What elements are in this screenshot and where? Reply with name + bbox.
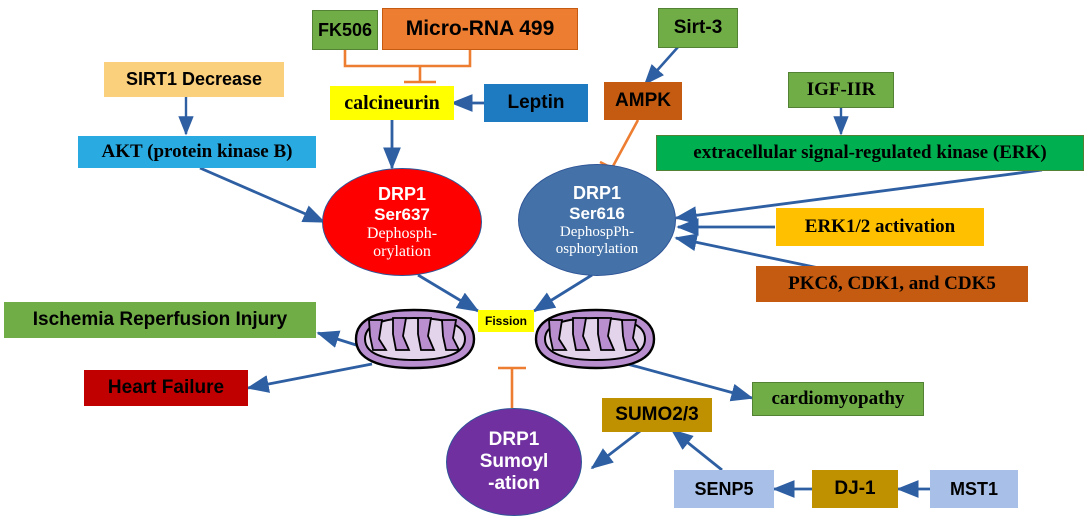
edge-akt-drp1-637 <box>200 168 324 222</box>
ellipse-line-3: -ation <box>488 473 540 495</box>
node-akt[interactable]: AKT (protein kinase B) <box>78 136 316 168</box>
ellipse-line-2: Sumoyl <box>480 451 549 473</box>
node-micro-rna-499[interactable]: Micro-RNA 499 <box>382 8 578 50</box>
mitochondrion-right <box>528 306 664 372</box>
node-fission: Fission <box>478 310 534 332</box>
node-calcineurin[interactable]: calcineurin <box>330 86 454 120</box>
edge-drp1-sumo-fission <box>498 368 526 408</box>
node-senp5[interactable]: SENP5 <box>674 470 774 508</box>
ellipse-drp1-ser616[interactable]: DRP1 Ser616 DephospPh- osphorylation <box>518 164 676 276</box>
node-dj-1[interactable]: DJ-1 <box>812 470 898 508</box>
edge-fk506-calcineurin <box>345 50 420 66</box>
node-mst1[interactable]: MST1 <box>930 470 1018 508</box>
edge-sumo23-drp1-sumo <box>592 428 644 468</box>
pathway-diagram: FK506 Micro-RNA 499 Sirt-3 SIRT1 Decreas… <box>0 0 1084 521</box>
node-igf-iir[interactable]: IGF-IIR <box>788 72 894 108</box>
edge-sirt3-ampk <box>645 47 678 84</box>
ellipse-line-1: DRP1 <box>378 184 426 205</box>
node-erk12-activation[interactable]: ERK1/2 activation <box>776 208 984 246</box>
ellipse-line-2: Ser616 <box>569 204 625 224</box>
ellipse-line-2: Ser637 <box>374 205 430 225</box>
node-leptin[interactable]: Leptin <box>484 84 588 122</box>
node-erk[interactable]: extracellular signal-regulated kinase (E… <box>656 135 1084 171</box>
ellipse-drp1-sumoylation[interactable]: DRP1 Sumoyl -ation <box>446 408 582 516</box>
ellipse-line-1: DRP1 <box>573 183 621 204</box>
node-pkcd-cdk1-cdk5[interactable]: PKCδ, CDK1, and CDK5 <box>756 266 1028 302</box>
node-heart-failure[interactable]: Heart Failure <box>84 370 248 406</box>
node-sirt1-decrease[interactable]: SIRT1 Decrease <box>104 62 284 97</box>
ellipse-line-4: orylation <box>373 243 431 261</box>
mitochondrion-left <box>346 306 482 372</box>
edge-senp5-sumo23 <box>672 430 722 470</box>
node-cardiomyopathy[interactable]: cardiomyopathy <box>752 382 924 416</box>
ellipse-drp1-ser637[interactable]: DRP1 Ser637 Dephosph- orylation <box>322 168 482 276</box>
node-ampk[interactable]: AMPK <box>604 82 682 120</box>
node-sirt-3[interactable]: Sirt-3 <box>658 8 738 48</box>
ellipse-line-3: Dephosph- <box>367 225 437 243</box>
ellipse-line-4: osphorylation <box>556 241 639 258</box>
node-sumo23[interactable]: SUMO2/3 <box>602 398 712 432</box>
ellipse-line-3: DephospPh- <box>560 224 634 241</box>
ellipse-line-1: DRP1 <box>489 429 540 451</box>
node-ischemia-reperfusion-injury[interactable]: Ischemia Reperfusion Injury <box>4 302 316 338</box>
node-fk506[interactable]: FK506 <box>312 10 378 50</box>
edge-mirna499-calcineurin <box>404 50 470 82</box>
